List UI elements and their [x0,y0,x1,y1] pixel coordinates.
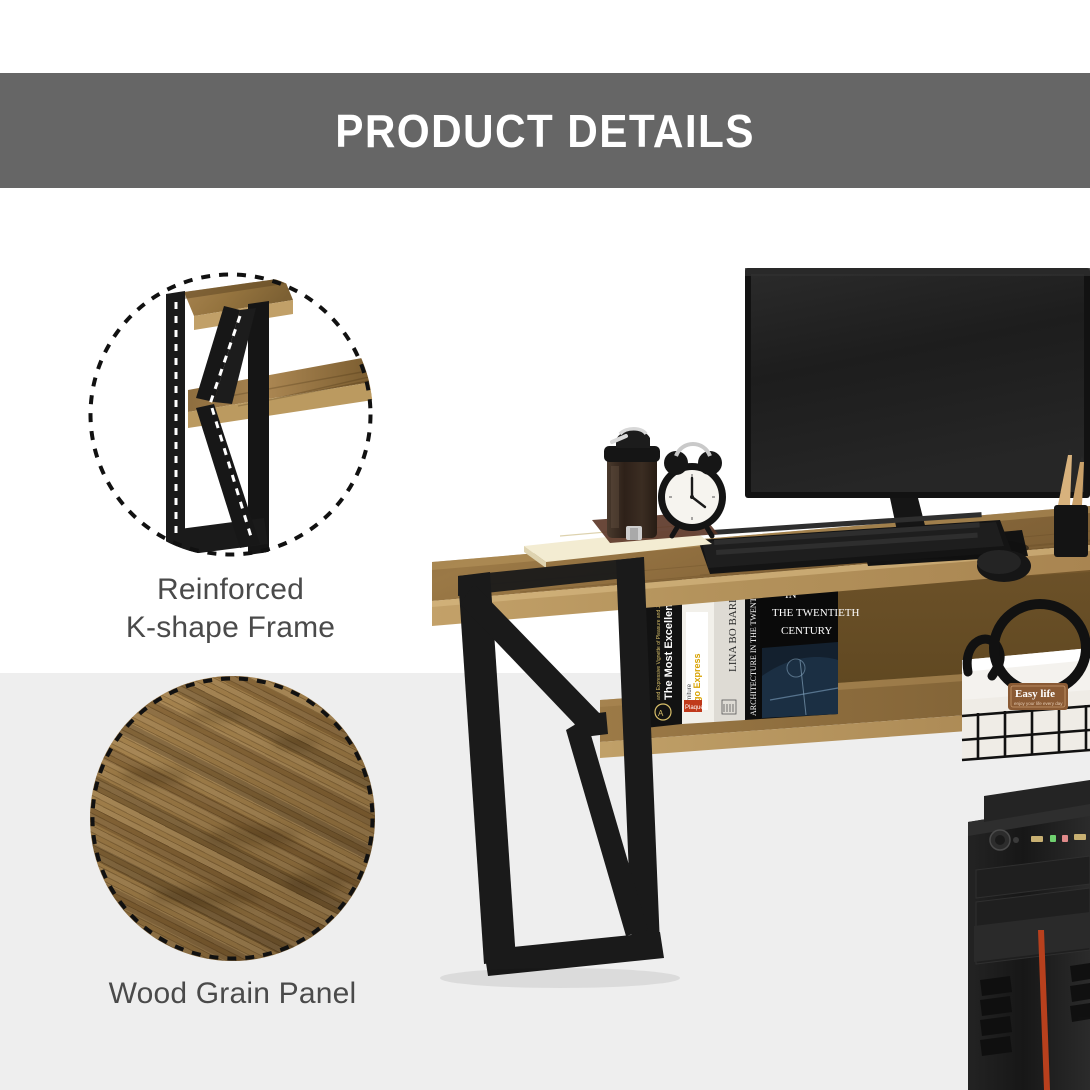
pc-usb-port-1 [1031,836,1043,842]
pc-mic-jack [1062,835,1068,842]
callout-circle-frame [88,272,373,557]
shaker-bottle [604,429,660,540]
svg-text:The Most Excellent: The Most Excellent [663,600,675,700]
callout-caption-frame-line2: K-shape Frame [78,609,383,647]
svg-text:LINA BO BARDI: LINA BO BARDI [727,591,739,672]
product-details-page: The Most Excellent and Expressive Vignet… [0,0,1090,1090]
callout-circle-wood [90,676,375,961]
svg-text:CENTURY: CENTURY [781,625,832,637]
callout-reinforced-k-shape-frame: Reinforced K-shape Frame [78,272,383,648]
svg-text:enjoy your life every day: enjoy your life every day [1014,701,1063,706]
callout-caption-frame-line1: Reinforced [78,571,383,609]
header-banner: PRODUCT DETAILS [0,73,1090,188]
k-frame-closeup-illustration [88,272,373,557]
wood-grain-texture [90,676,375,961]
page-title: PRODUCT DETAILS [335,104,755,158]
pc-tower [968,780,1090,1090]
svg-text:Plaque: Plaque [685,705,704,711]
svg-text:and Expressive Vignette of Ple: and Expressive Vignette of Pleasure and … [656,600,662,700]
callout-wood-grain-panel: Wood Grain Panel [80,676,385,1013]
callout-caption-wood: Wood Grain Panel [80,975,385,1013]
svg-text:A: A [658,709,664,718]
callout-caption-frame: Reinforced K-shape Frame [78,571,383,648]
bottle-lid [604,446,660,462]
k-shape-frame-leg [458,557,664,976]
pc-usb-port-2 [1074,834,1086,840]
svg-text:Ego Express: Ego Express [692,653,702,708]
callout-caption-wood-line1: Wood Grain Panel [80,975,385,1013]
pc-audio-jack [1050,835,1056,842]
mouse [977,550,1031,582]
svg-text:Easy life: Easy life [1015,688,1055,700]
monitor-screen [751,274,1084,492]
svg-text:THE TWENTIETH: THE TWENTIETH [772,607,860,619]
